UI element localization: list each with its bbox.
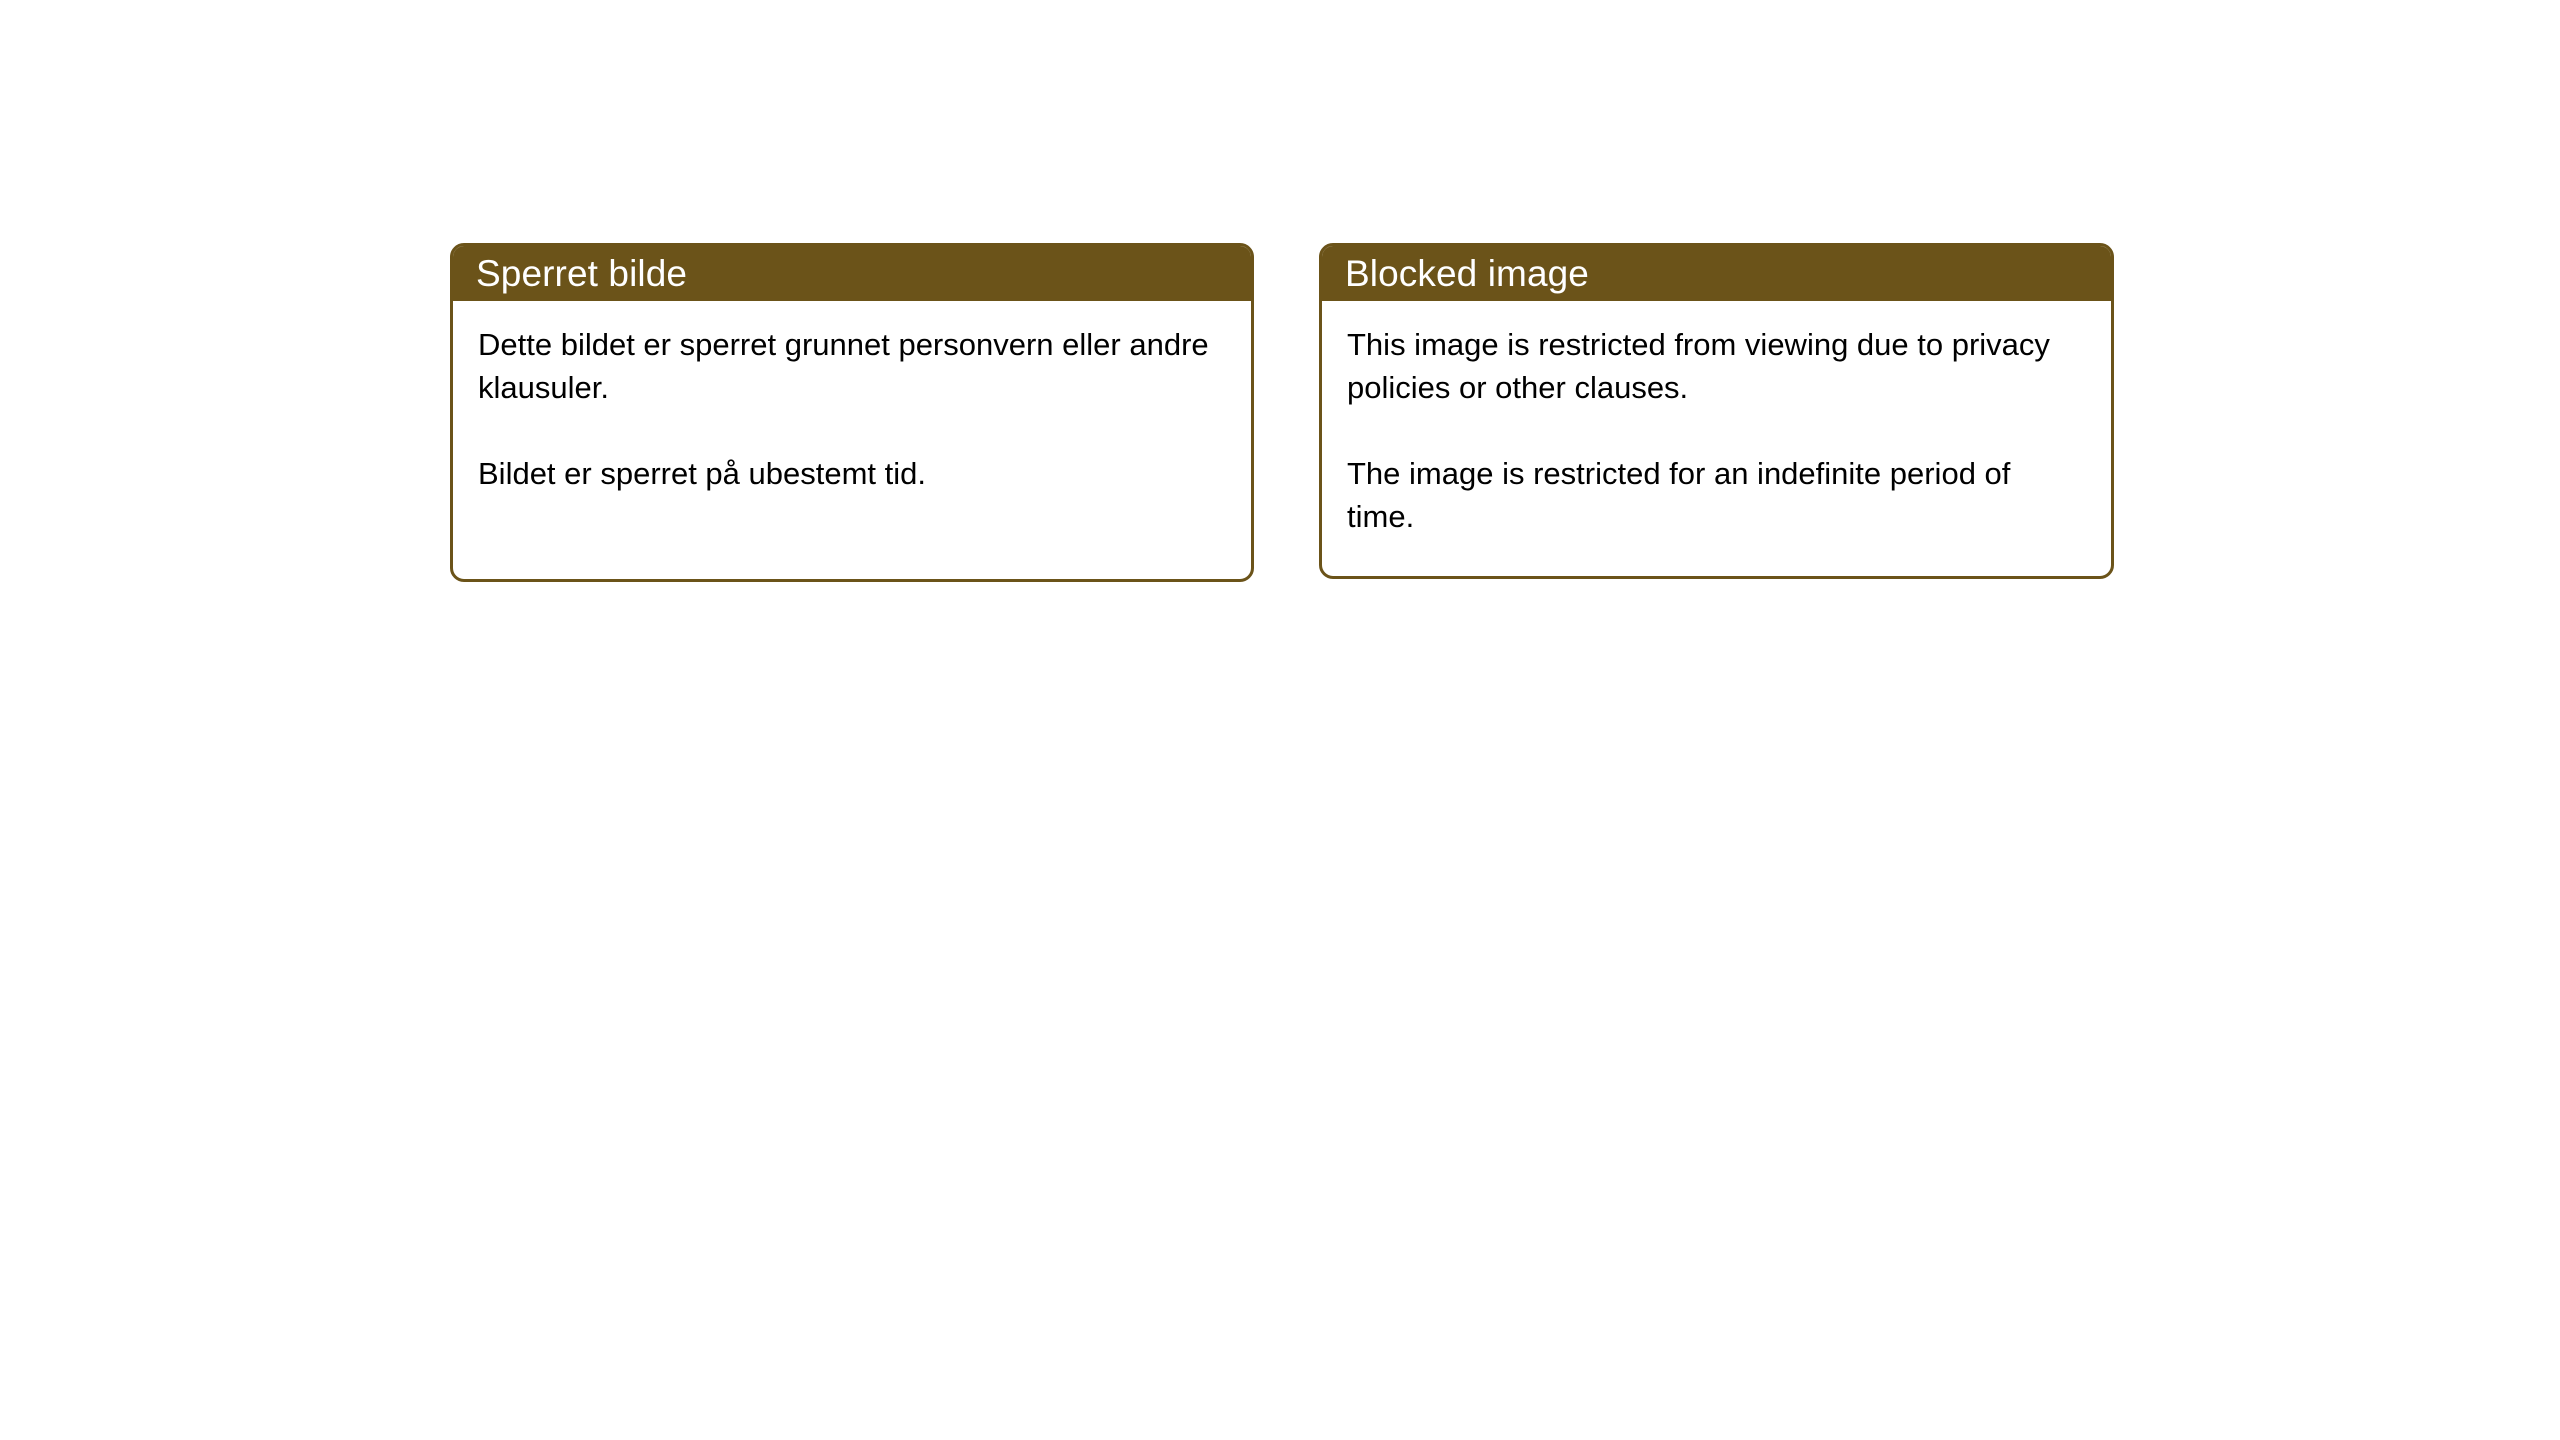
card-body-norwegian: Dette bildet er sperret grunnet personve… xyxy=(453,301,1251,495)
paragraph-spacer xyxy=(1347,409,2085,452)
paragraph-spacer xyxy=(478,409,1225,452)
card-header-english: Blocked image xyxy=(1322,246,2111,301)
card-body-english: This image is restricted from viewing du… xyxy=(1322,301,2111,538)
card-paragraph-duration-norwegian: Bildet er sperret på ubestemt tid. xyxy=(478,452,1225,495)
blocked-image-card-norwegian: Sperret bilde Dette bildet er sperret gr… xyxy=(450,243,1254,582)
card-paragraph-reason-english: This image is restricted from viewing du… xyxy=(1347,323,2085,409)
card-title-english: Blocked image xyxy=(1345,255,1589,292)
blocked-image-notice-area: Sperret bilde Dette bildet er sperret gr… xyxy=(450,243,2114,582)
card-paragraph-reason-norwegian: Dette bildet er sperret grunnet personve… xyxy=(478,323,1225,409)
card-title-norwegian: Sperret bilde xyxy=(476,255,687,292)
blocked-image-card-english: Blocked image This image is restricted f… xyxy=(1319,243,2114,579)
card-header-norwegian: Sperret bilde xyxy=(453,246,1251,301)
card-paragraph-duration-english: The image is restricted for an indefinit… xyxy=(1347,452,2085,538)
